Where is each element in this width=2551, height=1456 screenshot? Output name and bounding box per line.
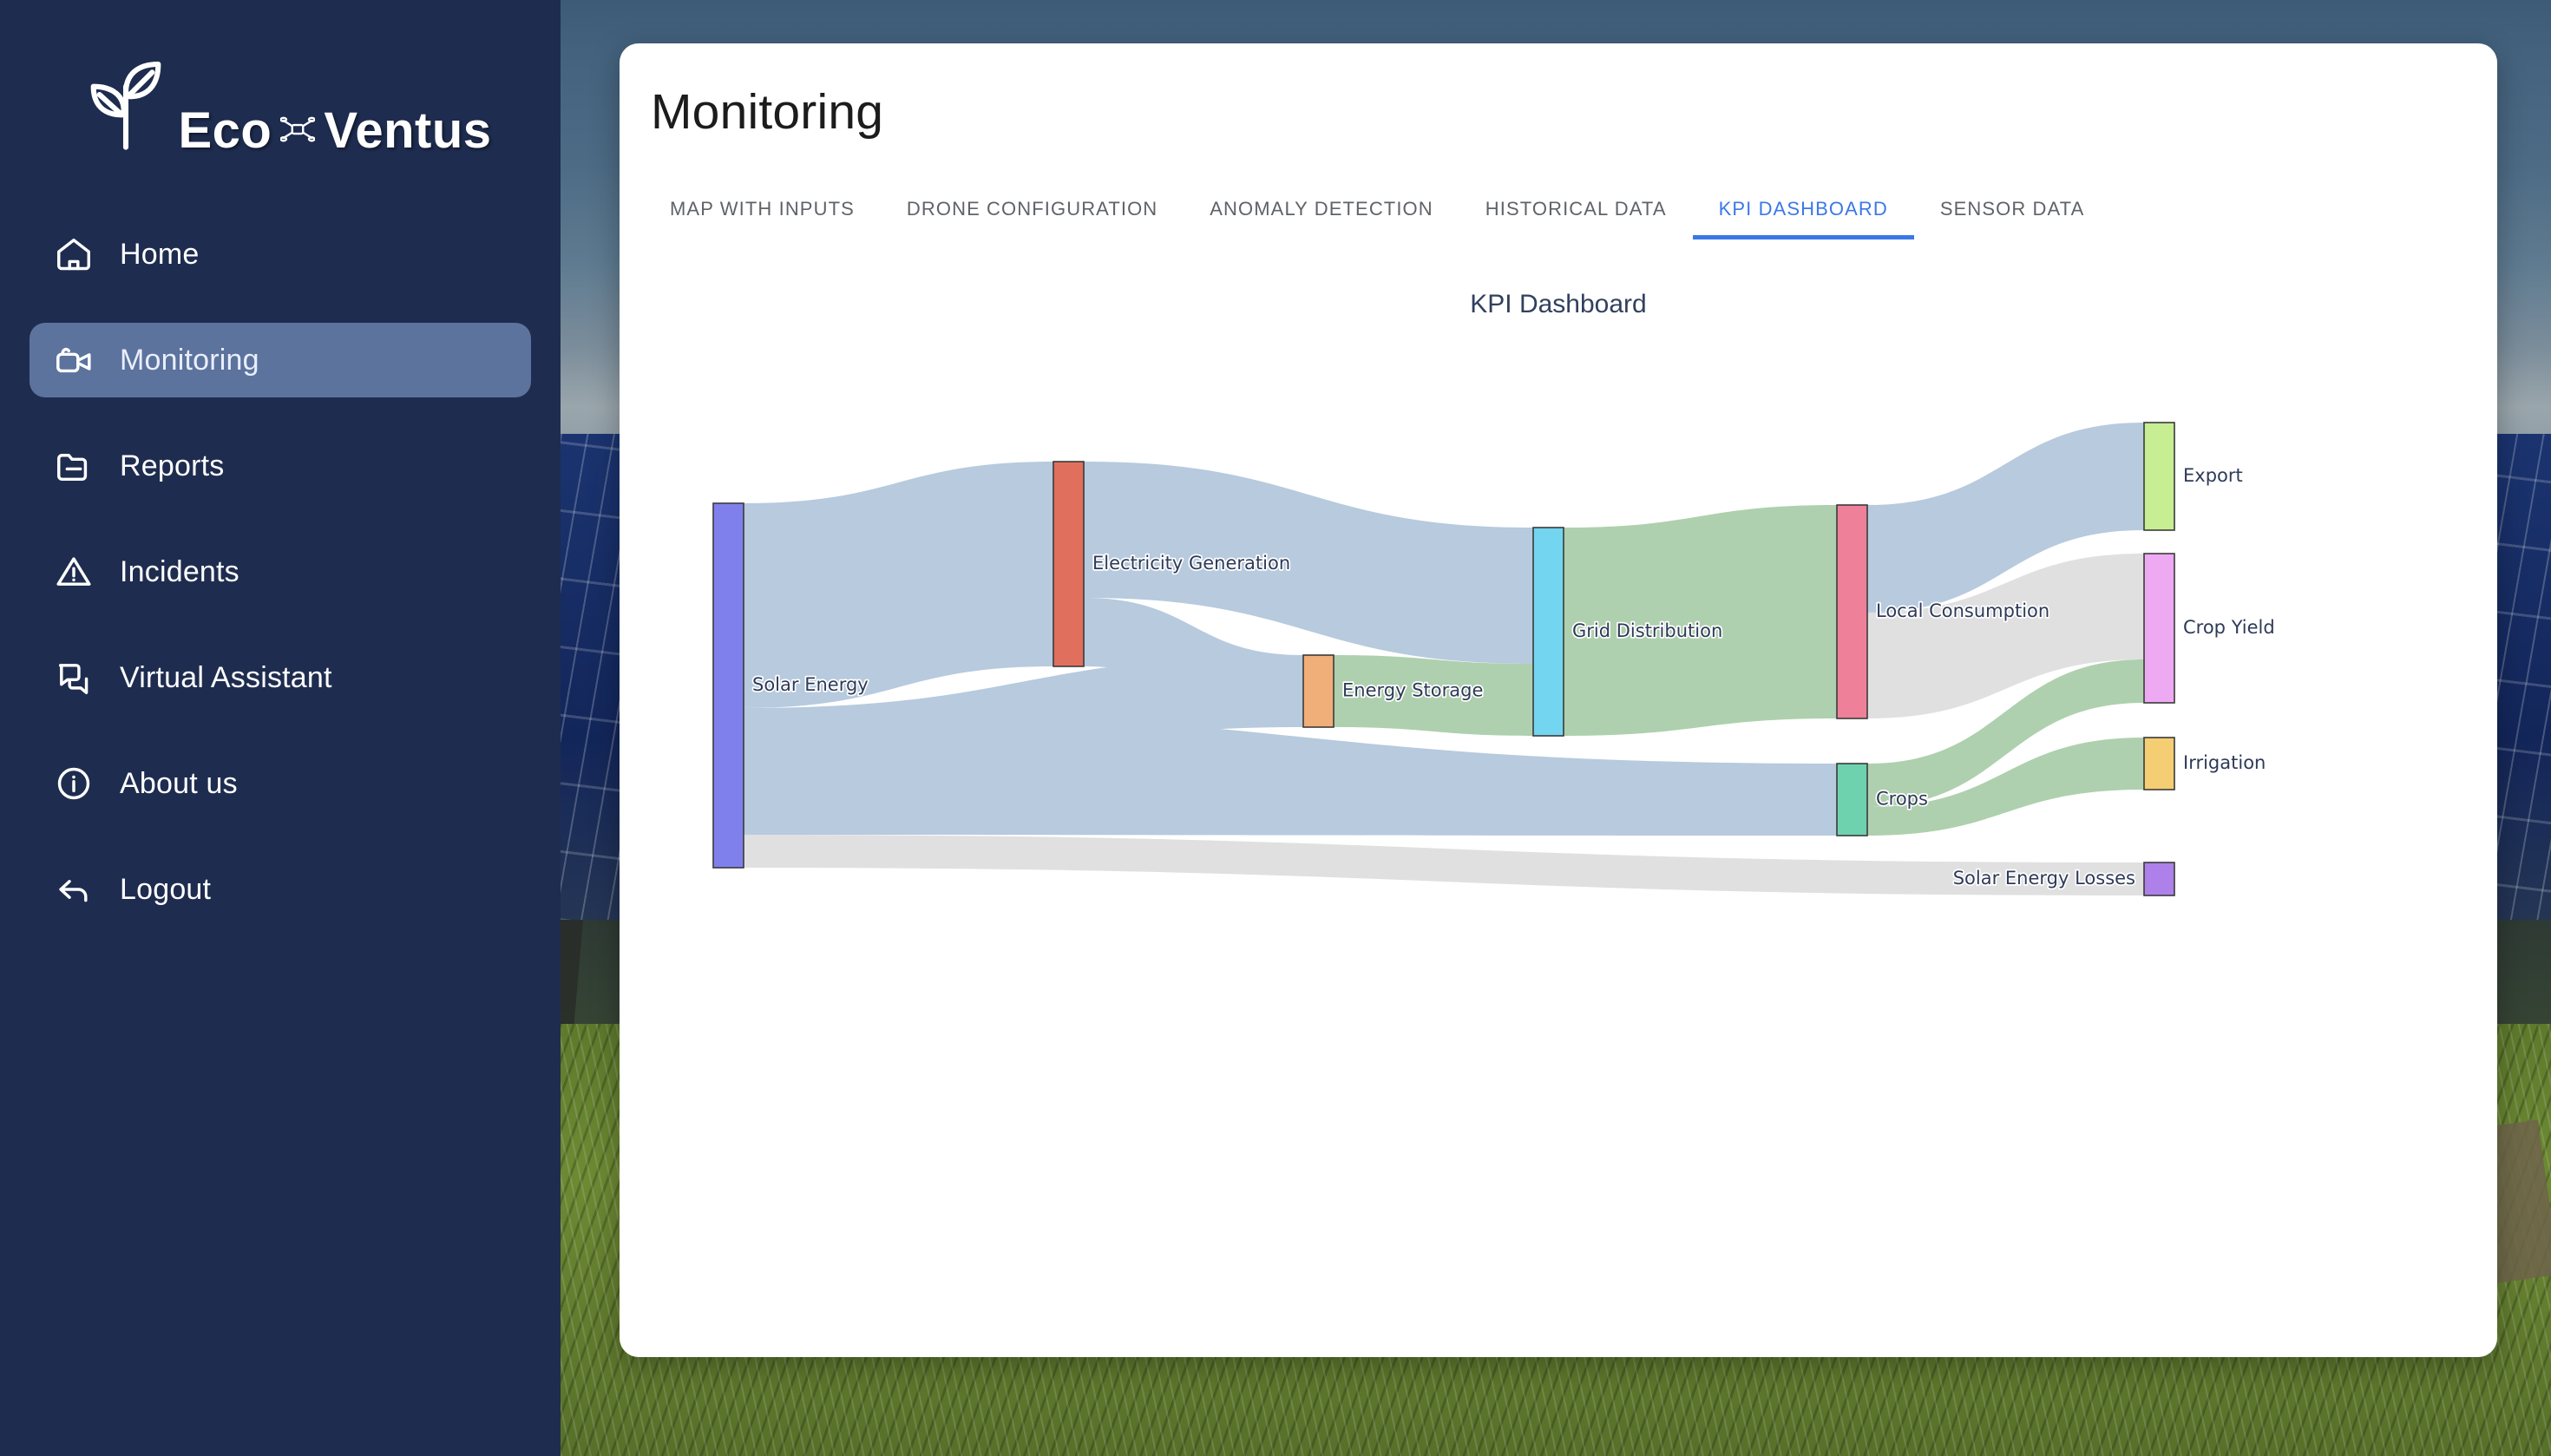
sankey-node-label: Solar Energy Losses bbox=[1953, 868, 2135, 889]
video-camera-icon bbox=[54, 340, 94, 380]
sankey-links bbox=[744, 423, 2144, 895]
chat-bubbles-icon bbox=[54, 658, 94, 698]
sankey-diagram: Solar EnergyElectricity GenerationEnergy… bbox=[620, 330, 2497, 989]
sidebar-item-virtual-assistant[interactable]: Virtual Assistant bbox=[30, 640, 531, 715]
sankey-node[interactable] bbox=[2144, 862, 2174, 895]
sankey-link[interactable] bbox=[744, 835, 2144, 895]
sankey-node[interactable] bbox=[1053, 462, 1084, 666]
sankey-link[interactable] bbox=[744, 462, 1053, 708]
sankey-node-label: Grid Distribution bbox=[1572, 620, 1722, 641]
brand-name-eco: Eco bbox=[178, 106, 272, 156]
sankey-node[interactable] bbox=[2144, 554, 2174, 703]
sidebar-item-label: Monitoring bbox=[120, 344, 259, 377]
drone-icon bbox=[280, 102, 315, 153]
sidebar-item-reports[interactable]: Reports bbox=[30, 429, 531, 503]
sidebar-item-label: About us bbox=[120, 767, 238, 801]
folder-minus-icon bbox=[54, 446, 94, 486]
brand-name-ventus: Ventus bbox=[324, 106, 491, 156]
sankey-node[interactable] bbox=[1303, 655, 1334, 727]
leaf-icon bbox=[77, 58, 174, 160]
tab-historical-data[interactable]: HISTORICAL DATA bbox=[1459, 193, 1693, 239]
info-circle-icon bbox=[54, 764, 94, 803]
sankey-node-label: Crop Yield bbox=[2183, 617, 2275, 638]
monitoring-card: Monitoring MAP WITH INPUTS DRONE CONFIGU… bbox=[620, 43, 2497, 1357]
sidebar-item-label: Virtual Assistant bbox=[120, 661, 332, 695]
warning-triangle-icon bbox=[54, 552, 94, 592]
sankey-node-label: Irrigation bbox=[2183, 752, 2266, 773]
logout-arrow-icon bbox=[54, 869, 94, 909]
sidebar-item-label: Reports bbox=[120, 449, 224, 483]
sidebar-nav: Home Monitoring Reports bbox=[0, 217, 561, 927]
sankey-node[interactable] bbox=[1533, 528, 1564, 736]
sankey-node-label: Electricity Generation bbox=[1092, 553, 1290, 574]
sidebar-item-monitoring[interactable]: Monitoring bbox=[30, 323, 531, 397]
sankey-node-label: Local Consumption bbox=[1876, 600, 2049, 621]
sankey-node[interactable] bbox=[1837, 764, 1867, 836]
sankey-node[interactable] bbox=[1837, 505, 1867, 718]
main-content: Monitoring MAP WITH INPUTS DRONE CONFIGU… bbox=[561, 0, 2551, 1456]
sidebar-item-label: Home bbox=[120, 238, 200, 272]
sankey-node[interactable] bbox=[2144, 423, 2174, 530]
chart-title: KPI Dashboard bbox=[620, 290, 2497, 319]
sankey-node-label: Export bbox=[2183, 465, 2243, 486]
sankey-node-label: Crops bbox=[1876, 789, 1928, 810]
brand-logo[interactable]: Eco Ventus bbox=[0, 0, 561, 217]
sidebar-item-label: Logout bbox=[120, 873, 211, 907]
sidebar-item-home[interactable]: Home bbox=[30, 217, 531, 292]
page-title: Monitoring bbox=[651, 83, 883, 141]
tab-sensor-data[interactable]: SENSOR DATA bbox=[1914, 193, 2111, 239]
tab-kpi-dashboard[interactable]: KPI DASHBOARD bbox=[1693, 193, 1914, 239]
sidebar-item-label: Incidents bbox=[120, 555, 239, 589]
sidebar-item-logout[interactable]: Logout bbox=[30, 852, 531, 927]
sankey-node-label: Energy Storage bbox=[1342, 680, 1483, 701]
sidebar-item-about-us[interactable]: About us bbox=[30, 746, 531, 821]
sankey-node[interactable] bbox=[713, 503, 744, 868]
sidebar-item-incidents[interactable]: Incidents bbox=[30, 535, 531, 609]
tab-drone-configuration[interactable]: DRONE CONFIGURATION bbox=[881, 193, 1184, 239]
tab-map-with-inputs[interactable]: MAP WITH INPUTS bbox=[644, 193, 881, 239]
sidebar: Eco Ventus bbox=[0, 0, 561, 1456]
sankey-node[interactable] bbox=[2144, 738, 2174, 790]
sankey-node-label: Solar Energy bbox=[752, 674, 869, 695]
tab-bar: MAP WITH INPUTS DRONE CONFIGURATION ANOM… bbox=[644, 193, 2497, 243]
tab-anomaly-detection[interactable]: ANOMALY DETECTION bbox=[1184, 193, 1459, 239]
home-icon bbox=[54, 234, 94, 274]
